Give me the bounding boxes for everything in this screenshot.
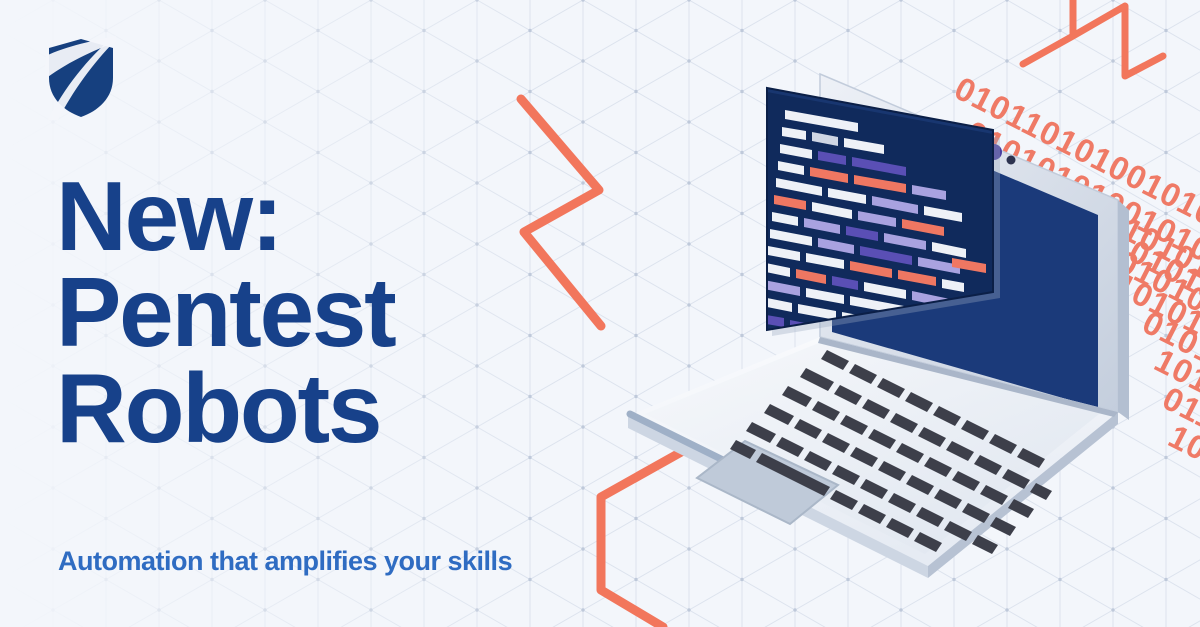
laptop-lid-edge xyxy=(1118,200,1129,420)
svg-text:101010101: 101010101 xyxy=(1163,417,1200,529)
isometric-laptop-illustration: 01011010100101011010101 0101010100101010… xyxy=(0,0,1200,627)
brand-logo[interactable] xyxy=(44,36,118,120)
shield-icon xyxy=(44,36,118,120)
webcam-indicator-icon xyxy=(1007,156,1016,165)
promo-banner: 01011010100101011010101 0101010100101010… xyxy=(0,0,1200,627)
